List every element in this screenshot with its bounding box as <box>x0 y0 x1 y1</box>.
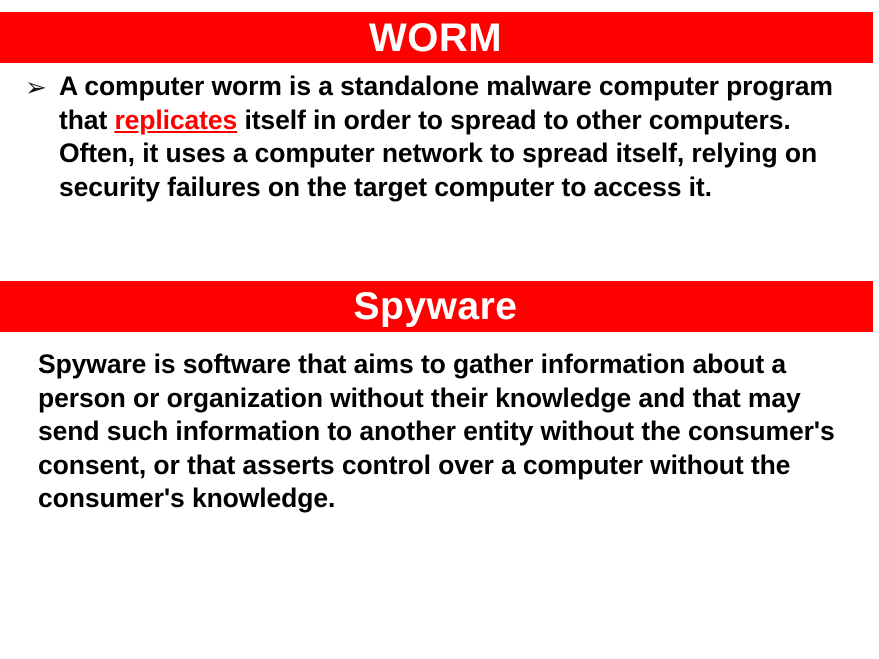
worm-paragraph: A computer worm is a standalone malware … <box>59 70 860 204</box>
worm-body-block: ➢ A computer worm is a standalone malwar… <box>25 70 860 204</box>
spyware-title: Spyware <box>354 287 518 326</box>
spyware-paragraph: Spyware is software that aims to gather … <box>38 348 854 516</box>
worm-title: WORM <box>369 18 502 58</box>
replicates-highlight: replicates <box>114 105 237 135</box>
slide: WORM ➢ A computer worm is a standalone m… <box>0 0 879 659</box>
arrow-bullet-icon: ➢ <box>25 70 59 105</box>
worm-title-band: WORM <box>0 12 873 63</box>
spyware-title-band: Spyware <box>0 281 873 332</box>
